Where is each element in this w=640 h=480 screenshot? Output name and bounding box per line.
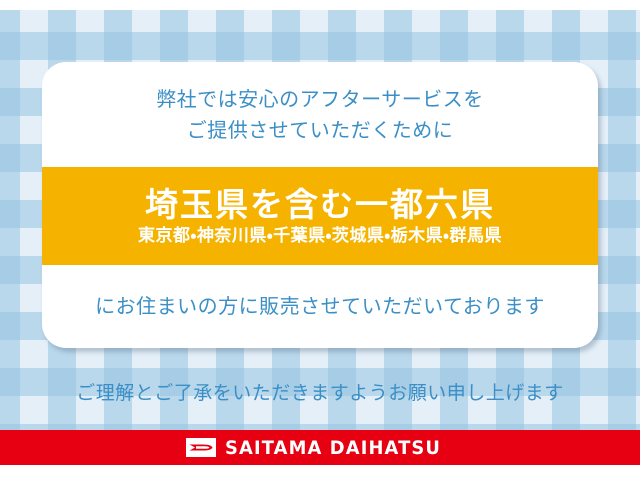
top-white-margin (0, 0, 640, 10)
card-intro-section: 弊社では安心のアフターサービスを ご提供させていただくために (42, 62, 598, 167)
brand-bar: SAITAMA DAIHATSU (0, 430, 640, 465)
highlight-band: 埼玉県を含む一都六県 東京都・神奈川県・千葉県・茨城県・栃木県・群馬県 (42, 167, 598, 265)
footer-note: ご理解とご了承をいただきますようお願い申し上げます (0, 378, 640, 405)
band-prefecture-list: 東京都・神奈川県・千葉県・茨城県・栃木県・群馬県 (138, 226, 502, 246)
daihatsu-logo-icon (186, 438, 216, 457)
intro-line-2: ご提供させていただくために (187, 117, 454, 144)
bottom-white-margin (0, 465, 640, 480)
card-closing-section: にお住まいの方に販売させていただいております (42, 265, 598, 348)
intro-line-1: 弊社では安心のアフターサービスを (156, 86, 484, 113)
brand-name: SAITAMA DAIHATSU (225, 437, 441, 459)
band-headline: 埼玉県を含む一都六県 (145, 186, 495, 224)
notice-image: 弊社では安心のアフターサービスを ご提供させていただくために 埼玉県を含む一都六… (0, 0, 640, 480)
closing-line: にお住まいの方に販売させていただいております (95, 293, 545, 320)
notice-card: 弊社では安心のアフターサービスを ご提供させていただくために 埼玉県を含む一都六… (42, 62, 598, 348)
